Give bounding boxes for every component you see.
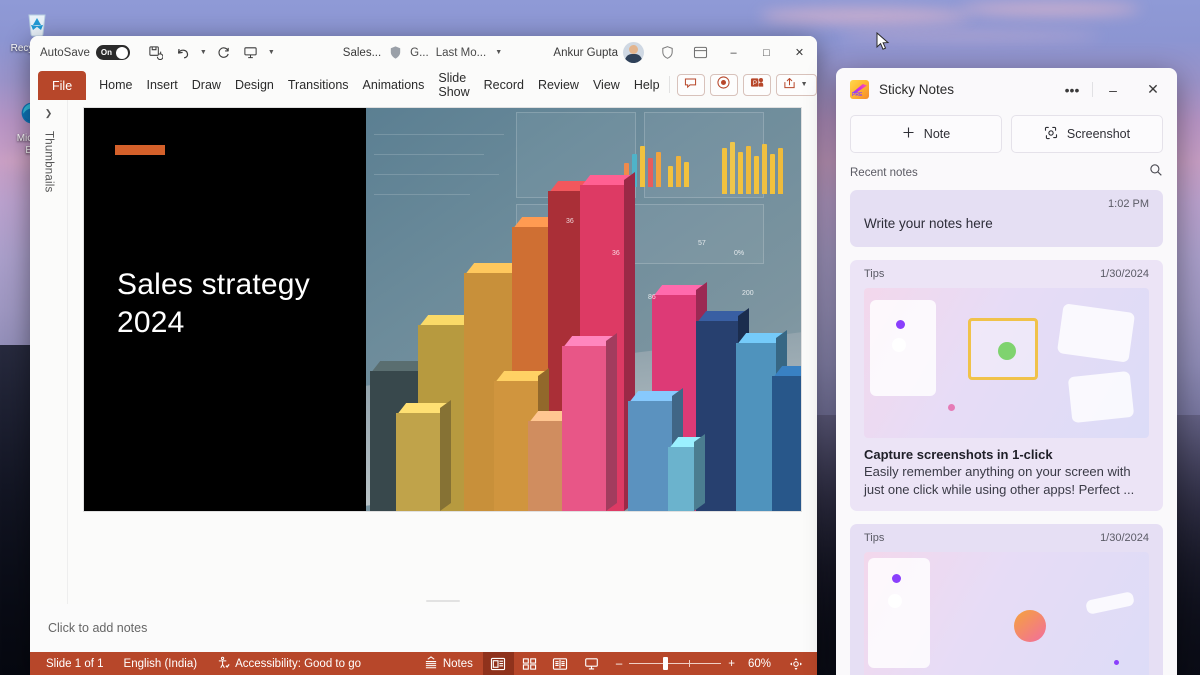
bar-3d	[396, 403, 440, 511]
record-circle-icon	[717, 76, 730, 94]
slide-accent-bar	[115, 145, 165, 155]
data-label: 36	[566, 218, 574, 225]
customize-quick-access-icon[interactable]: ▼	[266, 49, 277, 56]
data-label: 36	[612, 250, 620, 257]
mini-bar	[676, 156, 681, 187]
notes-label: Notes	[443, 658, 473, 670]
status-right-controls: Notes	[414, 652, 811, 675]
window-controls-area: Ankur Gupta –	[547, 38, 815, 68]
privacy-shield-icon[interactable]	[652, 38, 683, 68]
close-button[interactable]: ✕	[784, 38, 815, 68]
search-icon[interactable]	[1149, 163, 1163, 182]
bg-line	[374, 174, 499, 175]
tab-design[interactable]: Design	[228, 69, 281, 100]
data-label: 200	[742, 290, 754, 297]
notes-icon	[424, 656, 438, 672]
comment-icon	[684, 76, 697, 94]
zoom-slider-track[interactable]	[629, 663, 721, 664]
status-slide-counter[interactable]: Slide 1 of 1	[36, 652, 114, 675]
undo-icon[interactable]	[171, 42, 195, 64]
sticky-notes-title: Sticky Notes	[879, 82, 954, 97]
zoom-level[interactable]: 60%	[742, 658, 771, 670]
ribbon-tabs: File Home Insert Draw Design Transitions…	[30, 69, 817, 100]
minimize-button[interactable]: –	[718, 38, 749, 68]
autosave-state: On	[101, 48, 112, 57]
notes-pane[interactable]: Click to add notes	[30, 604, 817, 652]
notes-list[interactable]: 1:02 PM Write your notes here Tips 1/30/…	[836, 190, 1177, 675]
sticky-notes-titlebar: PRE Sticky Notes ••• – ✕	[836, 68, 1177, 111]
note-timestamp: 1:02 PM	[1108, 198, 1149, 210]
teams-icon: P	[750, 76, 764, 94]
recent-notes-label: Recent notes	[850, 167, 918, 179]
reading-view-button[interactable]	[545, 652, 576, 675]
bar-3d	[736, 333, 776, 511]
note-card[interactable]: Tips 1/30/2024	[850, 524, 1163, 675]
note-tip-text: Easily remember anything on your screen …	[850, 462, 1163, 511]
bg-line	[374, 134, 504, 135]
mini-bar	[778, 148, 783, 194]
mini-bar	[754, 156, 759, 194]
plus-icon	[902, 126, 915, 142]
divider	[669, 76, 670, 93]
avatar[interactable]	[623, 42, 644, 63]
protection-shield-icon	[388, 45, 403, 60]
ribbon-display-options-icon[interactable]	[685, 38, 716, 68]
tab-animations[interactable]: Animations	[356, 69, 432, 100]
autosave-toggle[interactable]: On	[96, 45, 130, 60]
present-in-teams-button[interactable]: P	[743, 74, 771, 96]
autosave-label: AutoSave	[40, 47, 90, 59]
sticky-notes-actions: Note Screenshot	[836, 111, 1177, 163]
note-text[interactable]: Write your notes here	[850, 212, 1163, 247]
powerpoint-body: ❯ Thumbnails	[30, 100, 817, 604]
recycle-bin-icon	[20, 6, 54, 40]
tab-draw[interactable]: Draw	[185, 69, 228, 100]
share-button[interactable]: ▼	[776, 74, 817, 96]
bar-3d	[772, 366, 801, 511]
notes-splitter[interactable]	[78, 597, 807, 604]
quick-access-toolbar[interactable]: ▼ ▼	[144, 42, 277, 64]
illustration-card	[1085, 591, 1135, 615]
undo-dropdown-icon[interactable]: ▼	[198, 49, 209, 56]
new-note-button[interactable]: Note	[850, 115, 1002, 153]
share-icon	[783, 76, 796, 94]
mini-bar	[684, 162, 689, 187]
sticky-notes-tag: PRE	[852, 92, 862, 98]
note-timestamp: 1/30/2024	[1100, 268, 1149, 280]
screenshot-icon	[1044, 126, 1058, 143]
screenshot-button[interactable]: Screenshot	[1011, 115, 1163, 153]
last-modified[interactable]: Last Mo...	[436, 47, 487, 59]
zoom-slider-control[interactable]: – + 60%	[607, 658, 780, 670]
note-header: Tips 1/30/2024	[850, 260, 1163, 282]
document-name[interactable]: Sales...	[343, 47, 381, 59]
redo-icon[interactable]	[212, 42, 236, 64]
cloud	[960, 2, 1140, 16]
note-header: 1:02 PM	[850, 190, 1163, 212]
mini-bar	[656, 152, 661, 187]
slide-image-3d-bar-chart[interactable]: 36 36 57 0% 86 200	[366, 108, 801, 511]
zoom-in-button[interactable]: +	[728, 658, 735, 670]
new-note-label: Note	[924, 127, 950, 141]
illustration-dot	[998, 342, 1016, 360]
tab-record[interactable]: Record	[477, 69, 531, 100]
tab-review[interactable]: Review	[531, 69, 586, 100]
accessibility-icon	[217, 656, 230, 672]
mouse-cursor	[876, 32, 890, 52]
chevron-right-icon[interactable]: ❯	[45, 108, 53, 119]
note-card[interactable]: Tips 1/30/2024 Capture screenshots in 1-…	[850, 260, 1163, 511]
slide-stage: 36 36 57 0% 86 200 Sales strategy 2024	[68, 100, 817, 604]
save-status: G...	[410, 47, 429, 59]
mini-bar	[668, 166, 673, 187]
autosave-knob	[116, 47, 128, 59]
thumbnails-pane-label: Thumbnails	[43, 131, 55, 192]
illustration-dot	[892, 338, 906, 352]
bar-3d	[668, 437, 694, 511]
note-tip-title: Capture screenshots in 1-click	[850, 438, 1163, 462]
user-name: Ankur Gupta	[553, 47, 618, 59]
cloud	[760, 8, 970, 24]
note-title: Tips	[864, 268, 884, 280]
chevron-down-icon[interactable]: ▼	[799, 81, 810, 88]
maximize-button[interactable]: □	[751, 38, 782, 68]
note-illustration	[864, 288, 1149, 438]
autosave-control[interactable]: AutoSave On	[40, 45, 130, 60]
data-label: 57	[698, 240, 706, 247]
tab-help[interactable]: Help	[627, 69, 667, 100]
status-accessibility[interactable]: Accessibility: Good to go	[207, 652, 371, 675]
accessibility-label: Accessibility: Good to go	[235, 658, 361, 670]
sticky-notes-window-controls: ••• – ✕	[1052, 69, 1173, 111]
tab-insert[interactable]: Insert	[140, 69, 185, 100]
mini-bar	[722, 148, 727, 194]
thumbnails-pane[interactable]: ❯ Thumbnails	[30, 100, 68, 604]
status-language[interactable]: English (India)	[114, 652, 208, 675]
save-icon[interactable]	[144, 42, 168, 64]
illustration-highlighter-tip	[1014, 610, 1046, 642]
minimize-button[interactable]: –	[1093, 69, 1133, 111]
illustration-dot	[948, 404, 955, 411]
zoom-slider-thumb[interactable]	[663, 657, 668, 670]
illustration-card	[1057, 303, 1135, 363]
svg-text:P: P	[752, 79, 756, 86]
slide-title[interactable]: Sales strategy 2024	[117, 266, 310, 343]
status-bar: Slide 1 of 1 English (India) Accessibili…	[30, 652, 817, 675]
illustration-card	[1068, 371, 1134, 423]
powerpoint-window[interactable]: AutoSave On	[30, 36, 817, 675]
comments-button[interactable]	[677, 74, 705, 96]
note-card[interactable]: 1:02 PM Write your notes here	[850, 190, 1163, 247]
mini-bar	[640, 146, 645, 187]
tab-file[interactable]: File	[38, 71, 86, 100]
slide-title-line-2: 2024	[117, 304, 310, 342]
recent-notes-header: Recent notes	[836, 163, 1177, 190]
user-account[interactable]: Ankur Gupta	[547, 42, 650, 63]
mini-bar	[770, 154, 775, 194]
tab-view[interactable]: View	[586, 69, 627, 100]
note-header: Tips 1/30/2024	[850, 524, 1163, 546]
status-notes-button[interactable]: Notes	[414, 652, 483, 675]
data-label: 86	[648, 294, 656, 301]
record-button[interactable]	[710, 74, 738, 96]
tab-home[interactable]: Home	[92, 69, 139, 100]
mini-bar	[762, 144, 767, 194]
illustration-dot	[1114, 660, 1119, 665]
avatar-body	[625, 54, 642, 63]
normal-view-button[interactable]	[483, 652, 514, 675]
more-options-button[interactable]: •••	[1052, 69, 1092, 111]
mini-bar	[738, 152, 743, 194]
slide-area: 36 36 57 0% 86 200 Sales strategy 2024	[78, 108, 807, 597]
data-label: 0%	[734, 250, 744, 257]
mini-bar	[730, 142, 735, 194]
fit-to-window-icon[interactable]	[780, 652, 811, 675]
note-timestamp: 1/30/2024	[1100, 532, 1149, 544]
slide-title-line-1: Sales strategy	[117, 266, 310, 304]
sticky-notes-window[interactable]: PRE Sticky Notes ••• – ✕ Note	[836, 68, 1177, 675]
powerpoint-titlebar: AutoSave On	[30, 36, 817, 69]
illustration-dot	[888, 594, 902, 608]
mini-bar	[648, 158, 653, 187]
zoom-out-button[interactable]: –	[616, 658, 622, 670]
tab-slide-show[interactable]: Slide Show	[431, 69, 476, 100]
splitter-grip	[426, 600, 460, 602]
note-illustration	[864, 552, 1149, 675]
bg-line	[374, 154, 484, 155]
screenshot-label: Screenshot	[1067, 127, 1130, 141]
slide-sorter-view-button[interactable]	[514, 652, 545, 675]
slide-show-button[interactable]	[576, 652, 607, 675]
mini-bar	[746, 146, 751, 194]
ribbon-action-buttons: P ▼	[667, 69, 817, 100]
document-dropdown-icon[interactable]: ▼	[493, 49, 504, 56]
avatar-head	[629, 45, 638, 54]
slide-canvas[interactable]: 36 36 57 0% 86 200 Sales strategy 2024	[84, 108, 801, 511]
start-presentation-icon[interactable]	[239, 42, 263, 64]
tab-transitions[interactable]: Transitions	[281, 69, 356, 100]
sticky-notes-icon: PRE	[850, 80, 869, 99]
note-title: Tips	[864, 532, 884, 544]
zoom-slider-tick	[689, 660, 690, 667]
illustration-dot	[896, 320, 905, 329]
bar-3d	[628, 391, 672, 511]
desktop: Recycle Bin Microsoft Edge AutoSave On	[0, 0, 1200, 675]
bg-line	[374, 194, 470, 195]
bar-3d	[562, 336, 606, 511]
close-button[interactable]: ✕	[1133, 69, 1173, 111]
